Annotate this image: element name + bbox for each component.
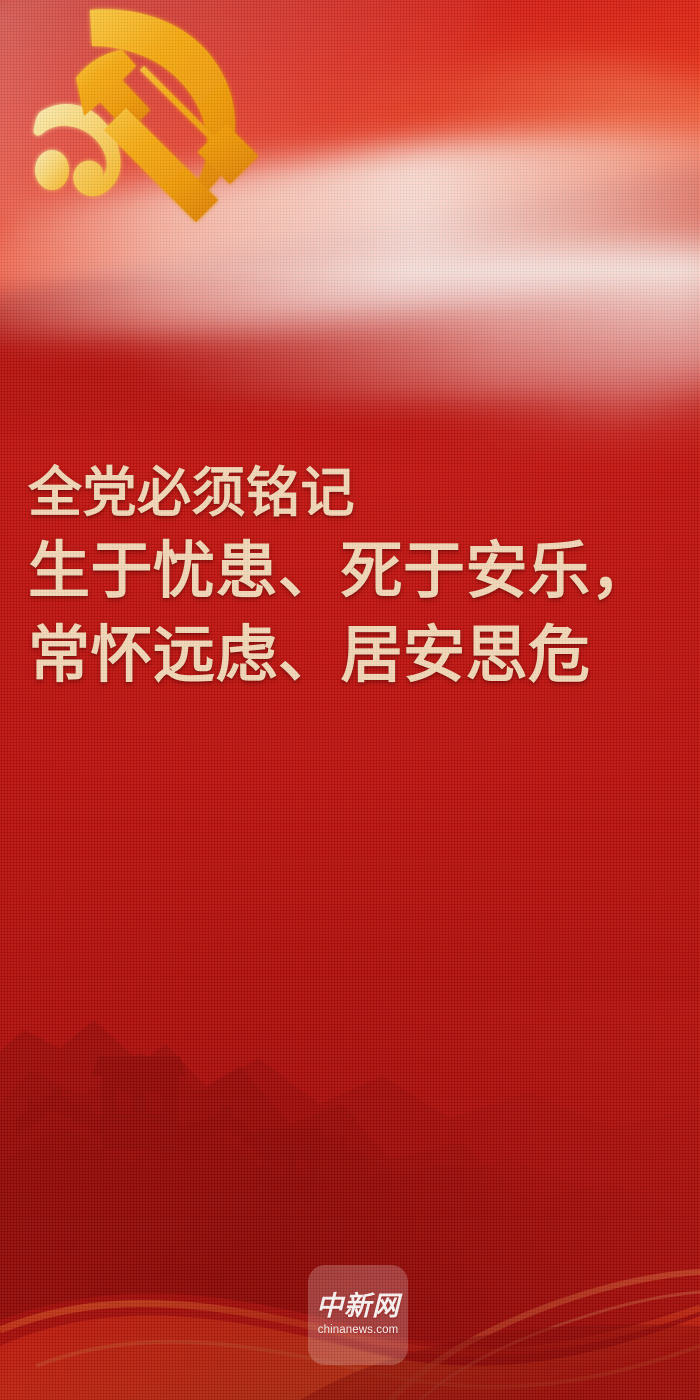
headline-line-3: 常怀远虑、居安思危 (28, 613, 678, 697)
background-vignette (0, 0, 700, 1400)
headline-line-1: 全党必须铭记 (28, 455, 678, 529)
chinanews-logo[interactable]: 中新网 chinanews.com (308, 1265, 408, 1365)
headline-block: 全党必须铭记 生于忧患、死于安乐， 常怀远虑、居安思危 (28, 455, 678, 697)
chinanews-logo-url: chinanews.com (318, 1325, 399, 1337)
chinanews-logo-mark: 中新网 (316, 1293, 400, 1320)
poster-canvas: 全党必须铭记 生于忧患、死于安乐， 常怀远虑、居安思危 中新网 chinanew… (0, 0, 700, 1400)
headline-line-2: 生于忧患、死于安乐， (28, 529, 678, 613)
